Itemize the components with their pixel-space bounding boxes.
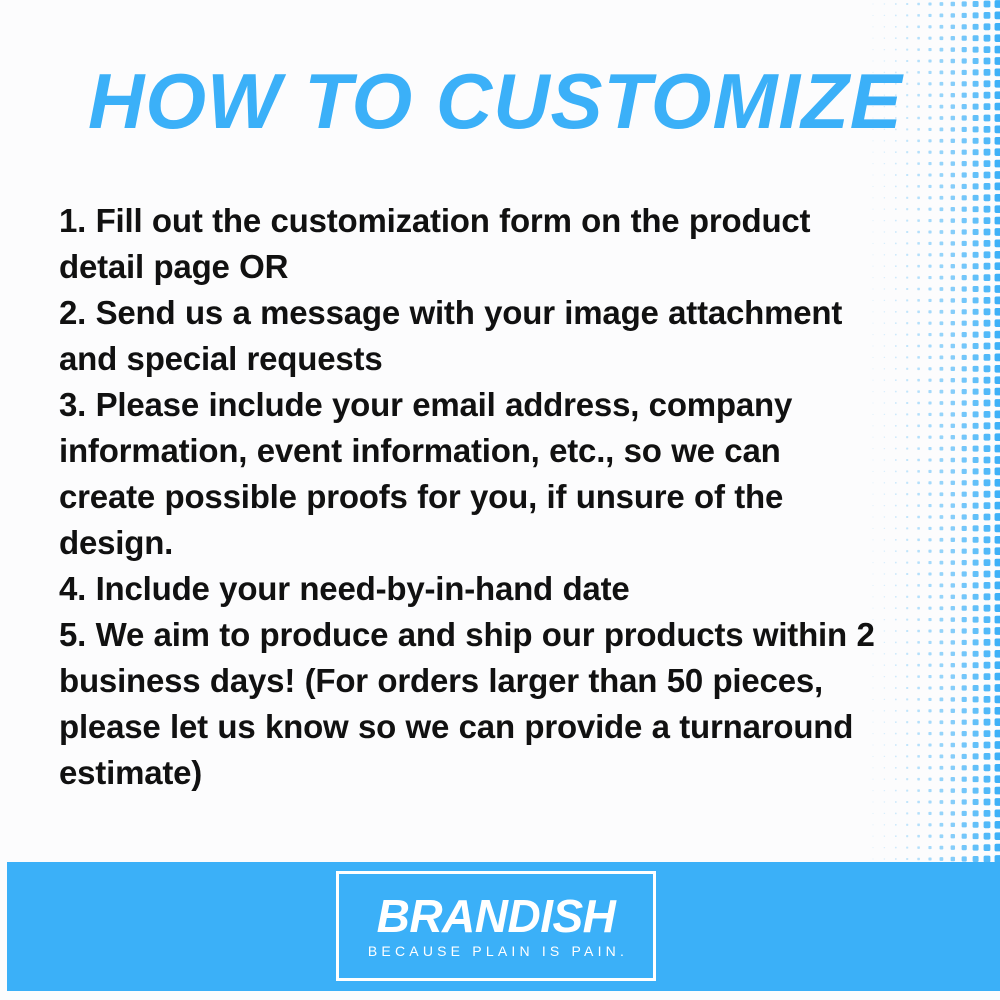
instruction-line: 3. Please include your email address, co… [59,382,929,428]
instruction-line: please let us know so we can provide a t… [59,704,929,750]
instruction-line: create possible proofs for you, if unsur… [59,474,929,520]
brand-logo-inner: BRANDISH BECAUSE PLAIN IS PAIN. [339,874,653,978]
page-title: HOW TO CUSTOMIZE [88,58,918,144]
instruction-line: 4. Include your need-by-in-hand date [59,566,929,612]
instruction-line: and special requests [59,336,929,382]
instruction-line: 1. Fill out the customization form on th… [59,198,929,244]
instruction-line: 2. Send us a message with your image att… [59,290,929,336]
instruction-line: estimate) [59,750,929,796]
poster-canvas: HOW TO CUSTOMIZE 1. Fill out the customi… [0,0,1000,1000]
brand-wordmark: BRANDISH [377,892,616,940]
brand-tagline: BECAUSE PLAIN IS PAIN. [364,942,628,960]
instruction-line: 5. We aim to produce and ship our produc… [59,612,929,658]
instruction-line: detail page OR [59,244,929,290]
instruction-line: business days! (For orders larger than 5… [59,658,929,704]
instruction-list: 1. Fill out the customization form on th… [59,198,929,796]
brand-logo: BRANDISH BECAUSE PLAIN IS PAIN. [336,871,656,981]
instruction-line: information, event information, etc., so… [59,428,929,474]
instruction-line: design. [59,520,929,566]
